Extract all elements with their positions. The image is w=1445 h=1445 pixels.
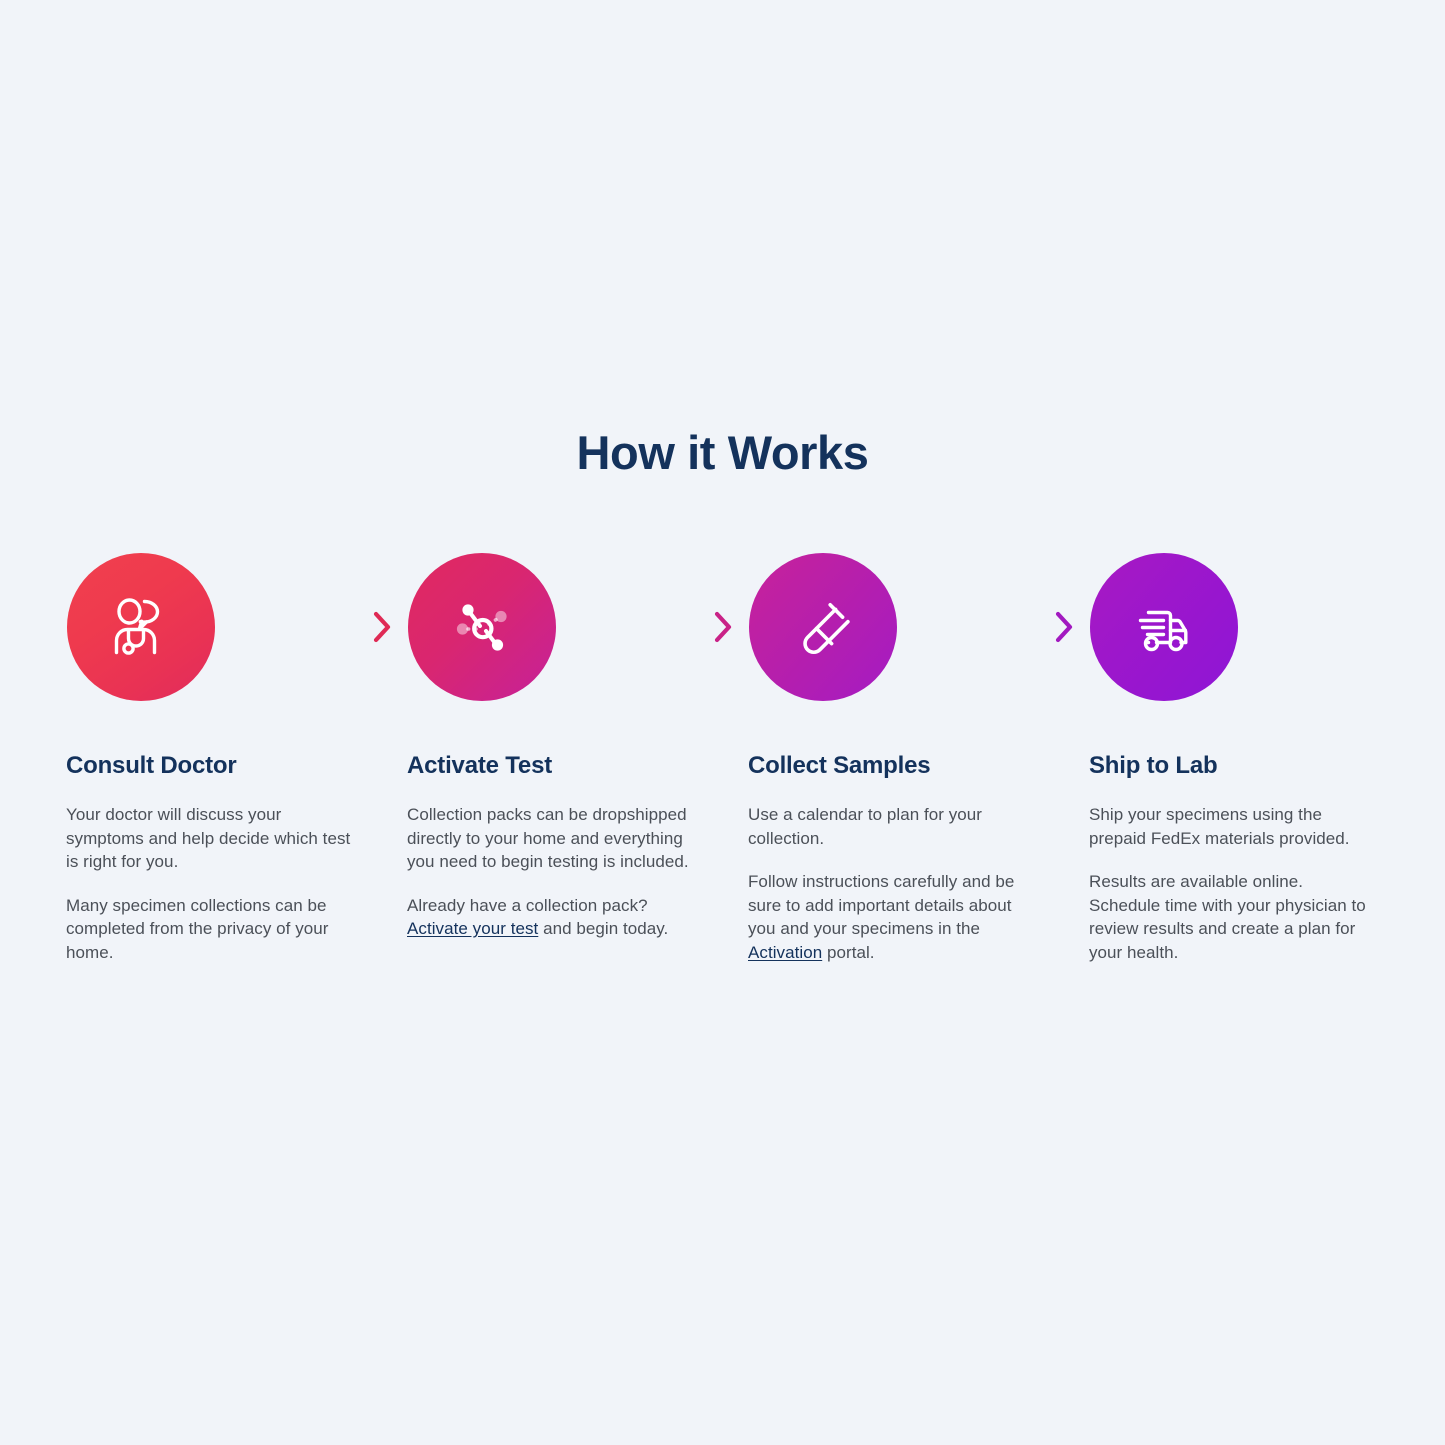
step-icon-circle-2 [408, 553, 556, 701]
step-paragraph: Ship your specimens using the prepaid Fe… [1089, 803, 1379, 850]
steps-row: Consult Doctor Your doctor will discuss … [66, 553, 1379, 964]
activate-your-test-link[interactable]: Activate your test [407, 919, 538, 938]
step-collect-samples: Collect Samples Use a calendar to plan f… [748, 553, 1038, 964]
chevron-right-icon [371, 610, 393, 644]
step-title: Ship to Lab [1089, 751, 1379, 781]
step-icon-circle-3 [749, 553, 897, 701]
step-body: Use a calendar to plan for your collecti… [748, 803, 1038, 964]
step-paragraph: Already have a collection pack? Activate… [407, 894, 697, 941]
text-before-link: Already have a collection pack? [407, 896, 648, 915]
step-icon-circle-4 [1090, 553, 1238, 701]
page-title: How it Works [0, 424, 1445, 482]
chevron-right-icon [1053, 610, 1075, 644]
step-separator-2 [697, 553, 748, 701]
text-after-link: portal. [822, 943, 874, 962]
molecule-network-icon [444, 589, 520, 665]
step-body: Collection packs can be dropshipped dire… [407, 803, 697, 941]
step-body: Ship your specimens using the prepaid Fe… [1089, 803, 1379, 964]
step-paragraph: Many specimen collections can be complet… [66, 894, 356, 965]
delivery-truck-icon [1126, 589, 1202, 665]
step-icon-circle-1 [67, 553, 215, 701]
step-paragraph: Your doctor will discuss your symptoms a… [66, 803, 356, 874]
doctor-consult-icon [103, 589, 179, 665]
step-separator-3 [1038, 553, 1089, 701]
step-paragraph: Results are available online. Schedule t… [1089, 870, 1379, 964]
step-paragraph: Use a calendar to plan for your collecti… [748, 803, 1038, 850]
step-paragraph: Collection packs can be dropshipped dire… [407, 803, 697, 874]
test-tube-icon [785, 589, 861, 665]
chevron-right-icon [712, 610, 734, 644]
activation-link[interactable]: Activation [748, 943, 822, 962]
step-title: Consult Doctor [66, 751, 356, 781]
step-separator-1 [356, 553, 407, 701]
step-activate-test: Activate Test Collection packs can be dr… [407, 553, 697, 941]
step-consult-doctor: Consult Doctor Your doctor will discuss … [66, 553, 356, 964]
step-title: Activate Test [407, 751, 697, 781]
step-body: Your doctor will discuss your symptoms a… [66, 803, 356, 964]
how-it-works-section: How it Works Consult Doctor Your doctor … [0, 0, 1445, 1445]
step-paragraph: Follow instructions carefully and be sur… [748, 870, 1038, 964]
step-ship-to-lab: Ship to Lab Ship your specimens using th… [1089, 553, 1379, 964]
text-before-link: Follow instructions carefully and be sur… [748, 872, 1014, 938]
text-after-link: and begin today. [538, 919, 668, 938]
step-title: Collect Samples [748, 751, 1038, 781]
